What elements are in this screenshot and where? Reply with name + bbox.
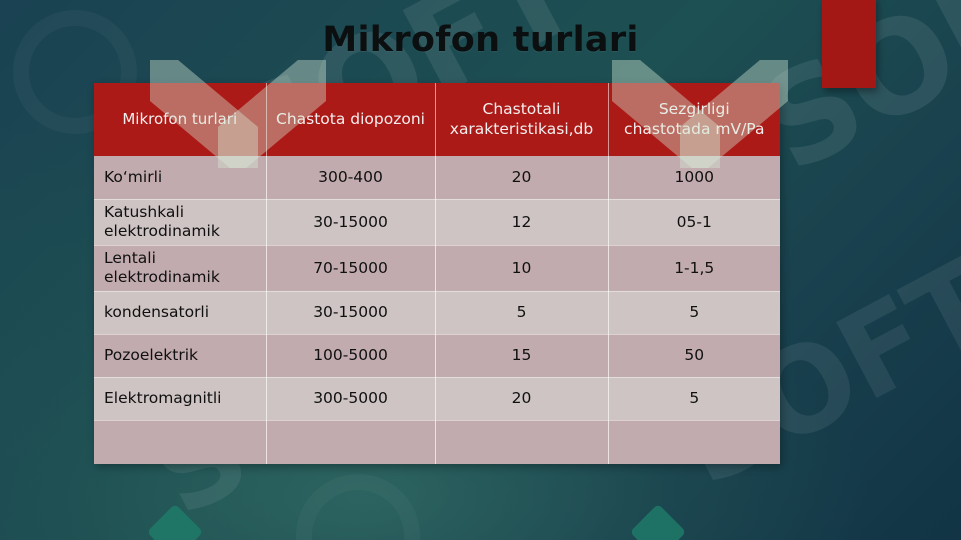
cell-sensitivity: 1-1,5 [608,245,780,291]
table-header-row: Mikrofon turlari Chastota diopozoni Chas… [94,83,780,156]
cell-type-line1: Lentali [104,249,266,268]
microphone-types-table: Mikrofon turlari Chastota diopozoni Chas… [94,83,780,464]
table-row: Katushkali elektrodinamik 30-15000 12 05… [94,199,780,245]
cell-type-line2: elektrodinamik [104,222,266,241]
watermark-diamond-icon [630,504,687,540]
cell-frequency-range: 100-5000 [266,334,435,377]
column-header-frequency-range: Chastota diopozoni [266,83,435,156]
cell-type-line1: Katushkali [104,203,266,222]
cell-type [94,420,266,464]
cell-type-line1: kondensatorli [104,303,266,322]
cell-frequency-range [266,420,435,464]
cell-frequency-range: 70-15000 [266,245,435,291]
column-header-type: Mikrofon turlari [94,83,266,156]
cell-frequency-response: 10 [435,245,608,291]
cell-type-line1: Elektromagnitli [104,389,266,408]
cell-type-line1: Pozoelektrik [104,346,266,365]
cell-sensitivity: 5 [608,291,780,334]
cell-type-line2: elektrodinamik [104,268,266,287]
cell-sensitivity: 50 [608,334,780,377]
slide-canvas: SOFT SOFT SOFT SOFT Mikrofon turlari Mik… [0,0,961,540]
cell-frequency-range: 300-5000 [266,377,435,420]
table-row: Pozoelektrik 100-5000 15 50 [94,334,780,377]
table-row: kondensatorli 30-15000 5 5 [94,291,780,334]
cell-frequency-response: 5 [435,291,608,334]
column-header-frequency-response: Chastotali xarakteristikasi,db [435,83,608,156]
cell-sensitivity: 5 [608,377,780,420]
cell-type: Lentali elektrodinamik [94,245,266,291]
cell-sensitivity: 05-1 [608,199,780,245]
watermark-ring-icon [296,474,420,540]
table-row: Lentali elektrodinamik 70-15000 10 1-1,5 [94,245,780,291]
cell-type: kondensatorli [94,291,266,334]
cell-frequency-response: 15 [435,334,608,377]
cell-type: Elektromagnitli [94,377,266,420]
cell-frequency-response [435,420,608,464]
cell-frequency-response: 12 [435,199,608,245]
cell-sensitivity [608,420,780,464]
cell-frequency-range: 30-15000 [266,291,435,334]
table-row-empty [94,420,780,464]
column-header-sensitivity: Sezgirligi chastotada mV/Pa [608,83,780,156]
cell-frequency-range: 30-15000 [266,199,435,245]
cell-sensitivity: 1000 [608,156,780,199]
cell-frequency-range: 300-400 [266,156,435,199]
cell-type: Katushkali elektrodinamik [94,199,266,245]
cell-frequency-response: 20 [435,377,608,420]
table-row: Elektromagnitli 300-5000 20 5 [94,377,780,420]
cell-type: Ko‘mirli [94,156,266,199]
table-row: Ko‘mirli 300-400 20 1000 [94,156,780,199]
cell-type: Pozoelektrik [94,334,266,377]
cell-frequency-response: 20 [435,156,608,199]
cell-type-line1: Ko‘mirli [104,168,266,187]
watermark-diamond-icon [147,504,204,540]
page-title: Mikrofon turlari [0,20,961,60]
